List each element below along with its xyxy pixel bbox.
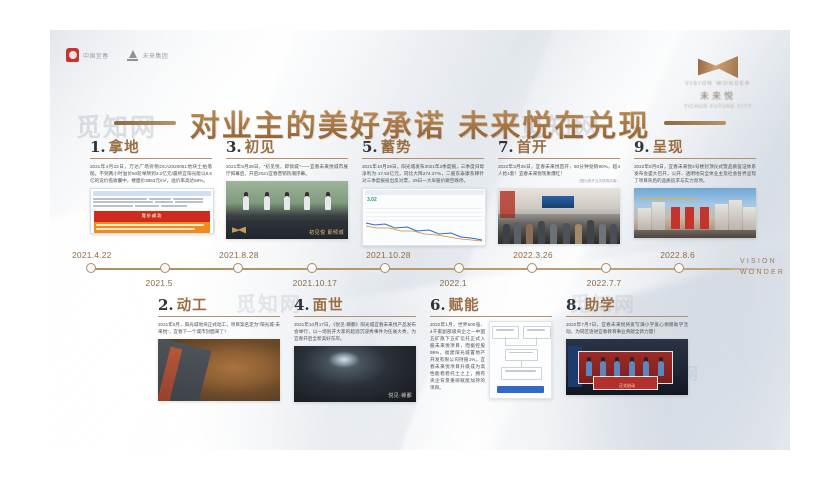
milestone-card-5[interactable]: 5. 蓄势 2021年10月28日，阳光城发布2021年3季度报，三季度归母净利… bbox=[362, 140, 484, 246]
card-5-body: 2021年10月28日，阳光城发布2021年3季度报，三季度归母净利为-17.5… bbox=[362, 163, 484, 184]
timeline-date-label-9: 2022.8.6 bbox=[660, 250, 695, 260]
building bbox=[715, 204, 728, 231]
grey-mountain-logo-icon bbox=[127, 49, 139, 61]
axis-end-brand: VISION WONDER bbox=[740, 256, 785, 278]
red-banner bbox=[685, 207, 694, 229]
timeline-date-label-8: 2022.7.7 bbox=[587, 278, 622, 288]
timeline-node-2[interactable] bbox=[160, 263, 170, 273]
card-7-body: 2022年3月26日，宜春未来悦首开，50分钟劲销90%，超4人抢1套！宜春未来… bbox=[498, 163, 620, 177]
card-2-number: 2. bbox=[158, 298, 174, 313]
timeline-date-label-6: 2022.1 bbox=[440, 278, 467, 288]
night-press-photo-image: 悦见·赣鄱 bbox=[294, 346, 416, 402]
card-9-title: 呈现 bbox=[653, 141, 684, 156]
card-2-head: 2. 动工 bbox=[158, 298, 280, 317]
card-8-head: 8. 助学 bbox=[566, 298, 688, 317]
card-5-number: 5. bbox=[362, 140, 378, 155]
milestone-card-3[interactable]: 3. 初见 2021年8月28日，"初见悦，即倾城"——宜春未来悦城市展厅揭幕启… bbox=[226, 140, 348, 239]
photo-screen bbox=[542, 196, 574, 207]
card-4-head: 4. 面世 bbox=[294, 298, 416, 317]
doc-table-rows bbox=[91, 196, 213, 211]
card-1-body: 2021年4月22日，万达广场旁侧DCA2020061地块土拍落槌，不到两小时溢… bbox=[90, 163, 212, 184]
card-8-title: 助学 bbox=[585, 299, 616, 314]
timeline-date-label-4: 2021.10.17 bbox=[293, 278, 338, 288]
card-6-content: 2022年1月，世界500强、4千家副部级央企之一中国五矿旗下五矿信托正式入股未… bbox=[430, 317, 552, 399]
card-5-head: 5. 蓄势 bbox=[362, 140, 484, 159]
axis-brand-line2: WONDER bbox=[740, 267, 785, 278]
marketing-poster: 中国宜春 未来集团 VISION WONDER 未来悦 YICHUN FUTUR… bbox=[50, 30, 790, 450]
card-6-body: 2022年1月，世界500强、4千家副部级央企之一中国五矿旗下五矿信托正式入股未… bbox=[430, 321, 485, 399]
crane-arm bbox=[641, 199, 697, 201]
flow-node bbox=[523, 326, 551, 339]
timeline-date-label-2: 2021.5 bbox=[146, 278, 173, 288]
flow-line bbox=[505, 345, 537, 346]
card-1-title: 拿地 bbox=[109, 141, 140, 156]
timeline-date-label-5: 2021.10.28 bbox=[366, 250, 411, 260]
construction-towers-image bbox=[634, 188, 756, 238]
flow-node bbox=[501, 367, 542, 380]
axis-brand-line1: VISION bbox=[740, 256, 785, 267]
timeline-date-label-3: 2021.8.28 bbox=[219, 250, 259, 260]
card-8-number: 8. bbox=[566, 298, 582, 313]
timeline-node-4[interactable] bbox=[307, 263, 317, 273]
chart-quote-value: 3.02 bbox=[367, 197, 377, 203]
logo-bar: 中国宜春 未来集团 bbox=[66, 48, 168, 62]
card-2-body: 2021年5月，阳光城地块正式动工，项目案名定为"阳光城·未来悦"，宜春下一个城… bbox=[158, 321, 280, 335]
timeline-date-label-1: 2021.4.22 bbox=[72, 250, 112, 260]
milestone-card-8[interactable]: 8. 助学 2022年7月7日，宜春未来悦将爱写满小学爱心捐赠助学活动，为同区逐… bbox=[566, 298, 688, 395]
card-3-number: 3. bbox=[226, 140, 242, 155]
card-7-number: 7. bbox=[498, 140, 514, 155]
red-seal-logo-icon bbox=[66, 48, 79, 62]
headline-rule-left bbox=[114, 121, 176, 125]
logo-label-1: 中国宜春 bbox=[83, 51, 109, 60]
timeline-node-5[interactable] bbox=[380, 263, 390, 273]
card-1-head: 1. 拿地 bbox=[90, 140, 212, 159]
card-1-number: 1. bbox=[90, 140, 106, 155]
card-4-title: 面世 bbox=[313, 299, 344, 314]
card-5-title: 蓄势 bbox=[381, 141, 412, 156]
headline-rule-right bbox=[664, 121, 726, 125]
flow-chart-screenshot-image bbox=[489, 321, 552, 399]
charity-ceremony-image: 正式启动 bbox=[566, 339, 688, 395]
card-6-number: 6. bbox=[430, 298, 446, 313]
brand-cn: 未来悦 bbox=[670, 89, 766, 102]
building bbox=[638, 208, 651, 231]
milestone-card-2[interactable]: 2. 动工 2021年5月，阳光城地块正式动工，项目案名定为"阳光城·未来悦"，… bbox=[158, 298, 280, 401]
milestone-card-6[interactable]: 6. 赋能 2022年1月，世界500强、4千家副部级央企之一中国五矿旗下五矿信… bbox=[430, 298, 552, 399]
building bbox=[743, 207, 756, 231]
doc-row bbox=[93, 201, 211, 203]
flow-node bbox=[505, 349, 539, 362]
building bbox=[652, 202, 665, 231]
milestone-card-7[interactable]: 7. 首开 2022年3月26日，宜春未来悦首开，50分钟劲销90%，超4人抢1… bbox=[498, 140, 620, 244]
doc-row bbox=[93, 205, 211, 207]
card-7-title: 首开 bbox=[517, 141, 548, 156]
card-2-title: 动工 bbox=[177, 299, 208, 314]
card-3-head: 3. 初见 bbox=[226, 140, 348, 159]
timeline-node-7[interactable] bbox=[527, 263, 537, 273]
timeline-date-label-7: 2022.3.26 bbox=[513, 250, 553, 260]
logo-label-2: 未来集团 bbox=[143, 51, 169, 60]
red-banner bbox=[671, 207, 680, 229]
doc-orange-note bbox=[94, 222, 210, 233]
timeline-node-3[interactable] bbox=[233, 263, 243, 273]
screenshot-stage: 中国宜春 未来集团 VISION WONDER 未来悦 YICHUN FUTUR… bbox=[0, 0, 840, 477]
doc-row bbox=[93, 198, 211, 200]
timeline-node-6[interactable] bbox=[454, 263, 464, 273]
doc-red-title: 竞价成功 bbox=[97, 213, 207, 219]
timeline-axis bbox=[90, 268, 726, 270]
milestone-card-4[interactable]: 4. 面世 2021年10月17日，《悦见·赣鄱》阳光城宜春未来悦产品发布会举行… bbox=[294, 298, 416, 402]
land-auction-document-image: 竞价成功 bbox=[90, 188, 214, 234]
card-4-body: 2021年10月17日，《悦见·赣鄱》阳光城宜春未来悦产品发布会举行，以一场别开… bbox=[294, 321, 416, 342]
photo-plaque-text: 正式启动 bbox=[566, 383, 688, 389]
sales-center-opening-image bbox=[498, 188, 620, 244]
ground-strip bbox=[634, 230, 756, 238]
card-8-body: 2022年7月7日，宜春未来悦将爱写满小学爱心捐赠助学活动，为同区逐进宜春教育事… bbox=[566, 321, 688, 335]
red-banner bbox=[700, 207, 709, 229]
card-9-number: 9. bbox=[634, 140, 650, 155]
photo-subtitle: 悦见·赣鄱 bbox=[388, 392, 412, 399]
card-7-caption: （图为首开当天现场实景） bbox=[498, 179, 620, 184]
stock-chart-screenshot-image: 3.02 bbox=[362, 188, 486, 246]
card-9-body: 2022年8月6日，宜春未来悦2号楼封顶仪式暨品质鉴证体系发布会盛大召开，公开、… bbox=[634, 163, 756, 184]
card-3-title: 初见 bbox=[245, 141, 276, 156]
card-3-body: 2021年8月28日，"初见悦，即倾城"——宜春未来悦城市展厅揭幕启，开启202… bbox=[226, 163, 348, 177]
card-6-head: 6. 赋能 bbox=[430, 298, 552, 317]
card-7-head: 7. 首开 bbox=[498, 140, 620, 159]
chart-toolbar bbox=[365, 190, 484, 195]
logo-unit-1: 中国宜春 bbox=[66, 48, 109, 62]
flow-line bbox=[521, 360, 522, 368]
timeline-node-9[interactable] bbox=[674, 263, 684, 273]
photo-people-row bbox=[586, 361, 664, 376]
photo-crowd bbox=[498, 214, 620, 243]
chart-line-svg bbox=[365, 217, 483, 243]
flow-highlight-button bbox=[497, 386, 543, 393]
flow-node bbox=[492, 326, 518, 339]
photo-people-row bbox=[243, 196, 331, 210]
card-4-number: 4. bbox=[294, 298, 310, 313]
milestone-card-1[interactable]: 1. 拿地 2021年4月22日，万达广场旁侧DCA2020061地块土拍落槌，… bbox=[90, 140, 212, 234]
milestone-card-9[interactable]: 9. 呈现 2022年8月6日，宜春未来悦2号楼封顶仪式暨品质鉴证体系发布会盛大… bbox=[634, 140, 756, 238]
aerial-construction-site-image bbox=[158, 339, 280, 401]
bowtie-logo-icon bbox=[698, 56, 738, 78]
building bbox=[729, 200, 742, 231]
timeline-node-1[interactable] bbox=[86, 263, 96, 273]
gate-group-photo-image: 初见悦 即倾城 bbox=[226, 181, 348, 239]
logo-unit-2: 未来集团 bbox=[127, 49, 169, 61]
brand-sub: YICHUN FUTURE CITY bbox=[670, 104, 766, 110]
brand-en: VISION WONDER bbox=[670, 81, 766, 87]
photo-banner-text: 初见悦 即倾城 bbox=[309, 229, 344, 236]
card-6-title: 赋能 bbox=[449, 299, 480, 314]
card-9-head: 9. 呈现 bbox=[634, 140, 756, 159]
brand-lockup: VISION WONDER 未来悦 YICHUN FUTURE CITY bbox=[670, 56, 766, 110]
timeline-node-8[interactable] bbox=[601, 263, 611, 273]
doc-red-banner: 竞价成功 bbox=[94, 211, 210, 222]
